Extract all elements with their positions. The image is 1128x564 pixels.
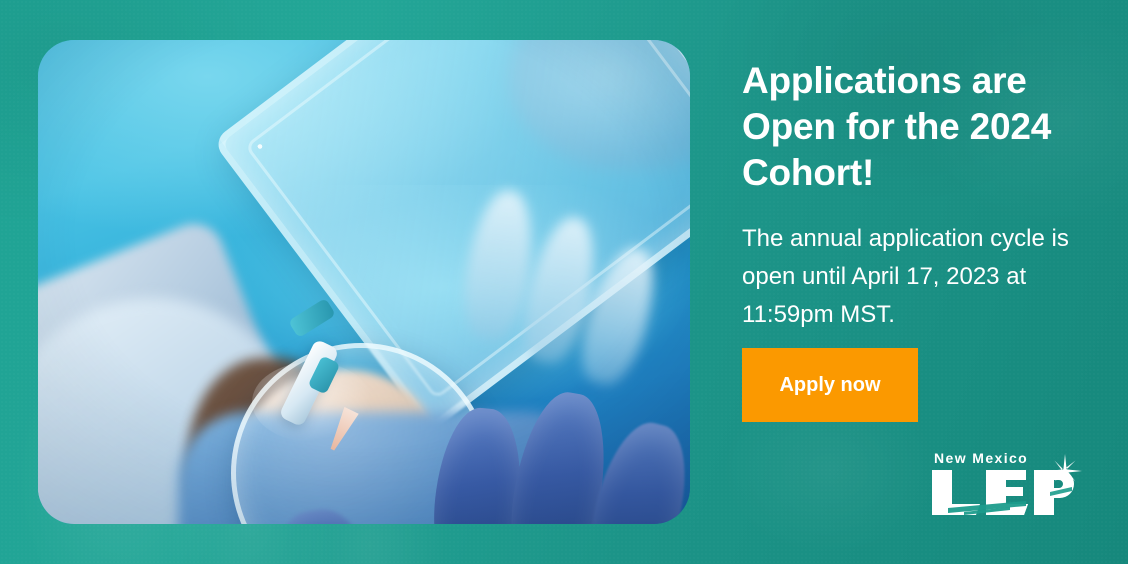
lab-photo: Scientist in lab holding a petri dish an… (38, 40, 690, 524)
banner-description: The annual application cycle is open unt… (742, 220, 1082, 334)
sparkle-icon (1048, 454, 1082, 488)
page-title: Applications are Open for the 2024 Cohor… (742, 58, 1082, 196)
logo-top-line: New Mexico (934, 450, 1028, 466)
banner-content: Applications are Open for the 2024 Cohor… (742, 58, 1082, 334)
apply-now-button[interactable]: Apply now (742, 348, 918, 422)
nm-leep-logo[interactable]: New Mexico (930, 450, 1080, 520)
photo-vignette (38, 40, 690, 524)
promo-banner: Scientist in lab holding a petri dish an… (0, 0, 1128, 564)
